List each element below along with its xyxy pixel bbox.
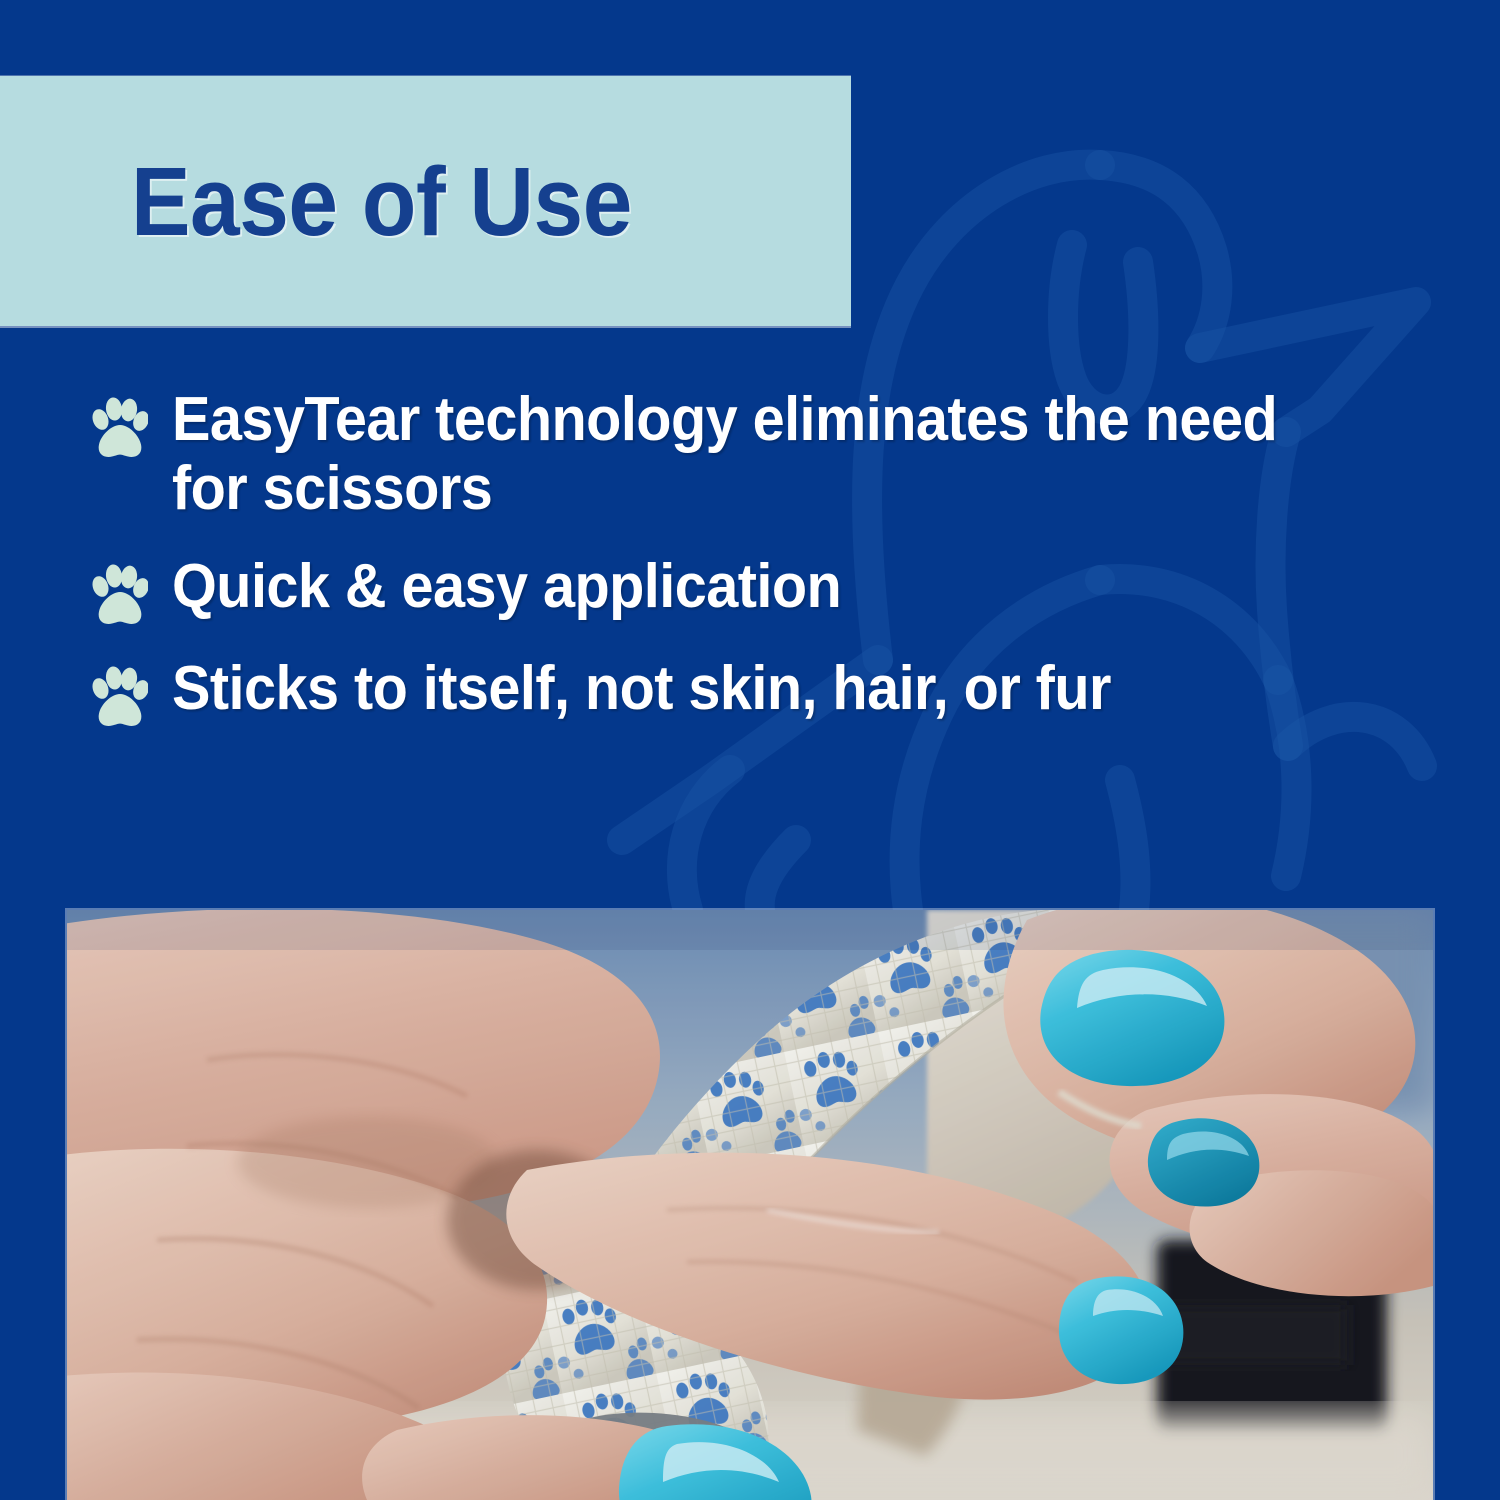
paw-print-icon: [92, 397, 148, 459]
promo-card: Ease of Use EasyTear technology eliminat…: [0, 0, 1500, 1500]
list-item-label: Sticks to itself, not skin, hair, or fur: [172, 654, 1111, 723]
product-demo-photo: [67, 910, 1433, 1500]
list-item-label: Quick & easy application: [172, 552, 841, 621]
list-item: Quick & easy application: [92, 552, 1452, 626]
list-item: EasyTear technology eliminates the need …: [92, 385, 1452, 524]
feature-bullet-list: EasyTear technology eliminates the need …: [92, 385, 1452, 728]
page-title: Ease of Use: [131, 153, 632, 250]
paw-print-icon: [92, 666, 148, 728]
list-item-label: EasyTear technology eliminates the need …: [172, 385, 1344, 524]
paw-print-icon: [92, 564, 148, 626]
list-item: Sticks to itself, not skin, hair, or fur: [92, 654, 1452, 728]
ease-of-use-banner: Ease of Use: [0, 76, 851, 326]
